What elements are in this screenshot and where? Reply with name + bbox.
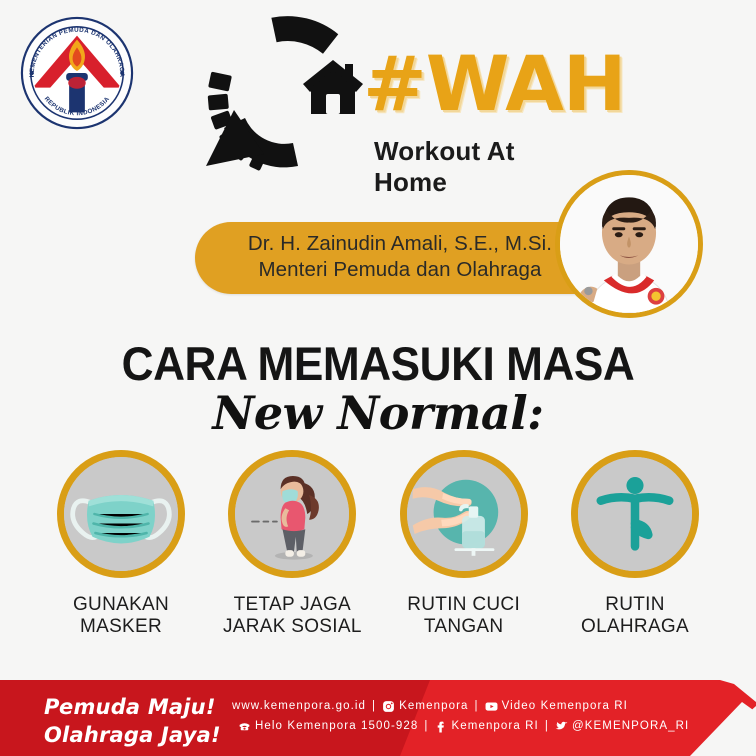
footer: Pemuda Maju! Olahraga Jaya! www.kemenpor… bbox=[0, 680, 756, 756]
wah-subtitle: Workout At Home bbox=[374, 136, 568, 198]
youtube-icon[interactable] bbox=[485, 700, 498, 713]
instagram-handle[interactable]: Kemenpora bbox=[399, 696, 468, 716]
steps-row: GUNAKAN MASKER bbox=[46, 450, 710, 638]
step-item: RUTIN OLAHRAGA bbox=[560, 450, 710, 638]
separator: | bbox=[473, 696, 481, 716]
minister-name: Dr. H. Zainudin Amali, S.E., M.Si. bbox=[217, 232, 583, 256]
hand-wash-icon bbox=[400, 450, 528, 578]
step-label: RUTIN CUCI TANGAN bbox=[389, 594, 539, 638]
wah-logo: #WAH Workout At Home bbox=[188, 8, 568, 183]
footer-contact: www.kemenpora.go.id | Kemenpora | Video … bbox=[232, 696, 689, 736]
facebook-icon[interactable] bbox=[435, 720, 448, 733]
instagram-icon[interactable] bbox=[382, 700, 395, 713]
step-item: RUTIN CUCI TANGAN bbox=[389, 450, 539, 638]
hash-symbol: # bbox=[363, 39, 426, 128]
footer-website[interactable]: www.kemenpora.go.id bbox=[232, 696, 366, 716]
twitter-handle[interactable]: @KEMENPORA_RI bbox=[572, 716, 689, 736]
step-label: TETAP JAGA JARAK SOSIAL bbox=[217, 594, 367, 638]
minister-portrait bbox=[555, 170, 703, 318]
separator: | bbox=[422, 716, 430, 736]
house-icon bbox=[301, 56, 365, 118]
face-mask-icon bbox=[57, 450, 185, 578]
minister-name-banner: Dr. H. Zainudin Amali, S.E., M.Si. Mente… bbox=[195, 222, 595, 294]
wah-wordmark: #WAH bbox=[363, 46, 626, 122]
minister-title: Menteri Pemuda dan Olahraga bbox=[217, 258, 583, 282]
kemenpora-logo: KEMENTERIAN PEMUDA DAN OLAHRAGA REPUBLIK… bbox=[18, 14, 136, 132]
page-subtitle: New Normal: bbox=[0, 386, 756, 440]
facebook-page[interactable]: Kemenpora RI bbox=[452, 716, 539, 736]
separator: | bbox=[370, 696, 378, 716]
social-distancing-icon bbox=[228, 450, 356, 578]
step-label: GUNAKAN MASKER bbox=[46, 594, 196, 638]
phone-icon bbox=[238, 720, 251, 733]
footer-slogan: Pemuda Maju! Olahraga Jaya! bbox=[44, 694, 254, 749]
separator: | bbox=[543, 716, 551, 736]
youtube-channel[interactable]: Video Kemenpora RI bbox=[502, 696, 628, 716]
step-item: TETAP JAGA JARAK SOSIAL bbox=[217, 450, 367, 638]
wah-title: WAH bbox=[426, 39, 626, 128]
step-label: RUTIN OLAHRAGA bbox=[560, 594, 710, 638]
twitter-icon[interactable] bbox=[555, 720, 568, 733]
step-item: GUNAKAN MASKER bbox=[46, 450, 196, 638]
phone-number[interactable]: Helo Kemenpora 1500-928 bbox=[255, 716, 418, 736]
poster-canvas: KEMENTERIAN PEMUDA DAN OLAHRAGA REPUBLIK… bbox=[0, 0, 756, 756]
page-title: CARA MEMASUKI MASA bbox=[23, 336, 734, 391]
exercise-icon bbox=[571, 450, 699, 578]
